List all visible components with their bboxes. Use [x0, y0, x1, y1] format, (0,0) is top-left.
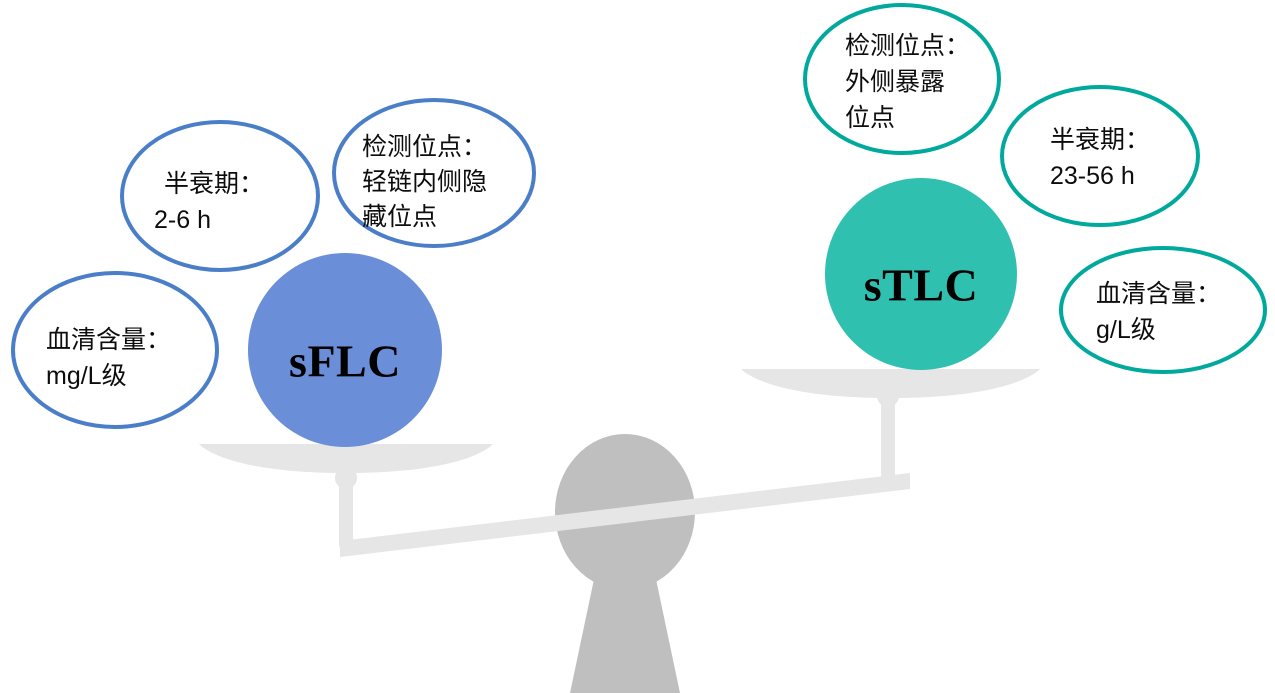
- stlc-node[interactable]: sTLC: [825, 178, 1017, 370]
- bubble-line-1: 检测位点：: [362, 133, 487, 161]
- bubble-line-2: 外侧暴露: [845, 68, 945, 96]
- bubble-line-2: 轻链内侧隐: [362, 168, 487, 196]
- right-bubble-half-life[interactable]: 半衰期： 23-56 h: [1002, 87, 1198, 225]
- bubble-line-2: mg/L级: [46, 362, 127, 390]
- left-pan: [199, 444, 493, 473]
- bubble-line-2: 2-6 h: [154, 206, 211, 234]
- bubble-line-1: 血清含量：: [1096, 280, 1221, 308]
- right-pan: [741, 369, 1040, 398]
- bubble-line-1: 检测位点：: [845, 32, 970, 60]
- right-bubble-serum-level[interactable]: 血清含量： g/L级: [1061, 248, 1265, 372]
- balance-comparison-diagram: sFLC 半衰期： 2-6 h 检测位点： 轻链内侧隐 藏位点 血清含量： mg…: [0, 0, 1275, 693]
- bubble-line-1: 半衰期：: [164, 170, 264, 198]
- bubble-line-2: g/L级: [1096, 316, 1156, 344]
- left-bubble-epitope[interactable]: 检测位点： 轻链内侧隐 藏位点: [334, 100, 534, 246]
- right-bubble-epitope[interactable]: 检测位点： 外侧暴露 位点: [805, 5, 999, 153]
- stlc-label: sTLC: [864, 260, 978, 311]
- left-bubble-serum-level[interactable]: 血清含量： mg/L级: [13, 273, 217, 427]
- sflc-node[interactable]: sFLC: [248, 253, 442, 447]
- bubble-line-2: 23-56 h: [1050, 162, 1135, 190]
- sflc-label: sFLC: [289, 336, 401, 387]
- bubble-outline[interactable]: [1061, 248, 1265, 372]
- bubble-line-1: 半衰期：: [1050, 126, 1150, 154]
- bubble-line-3: 藏位点: [362, 203, 437, 231]
- bubble-line-1: 血清含量：: [46, 326, 171, 354]
- bubble-line-3: 位点: [845, 104, 895, 132]
- diagram-canvas: sFLC 半衰期： 2-6 h 检测位点： 轻链内侧隐 藏位点 血清含量： mg…: [0, 0, 1275, 693]
- bubble-outline[interactable]: [1002, 87, 1198, 225]
- left-bubble-half-life[interactable]: 半衰期： 2-6 h: [122, 122, 318, 270]
